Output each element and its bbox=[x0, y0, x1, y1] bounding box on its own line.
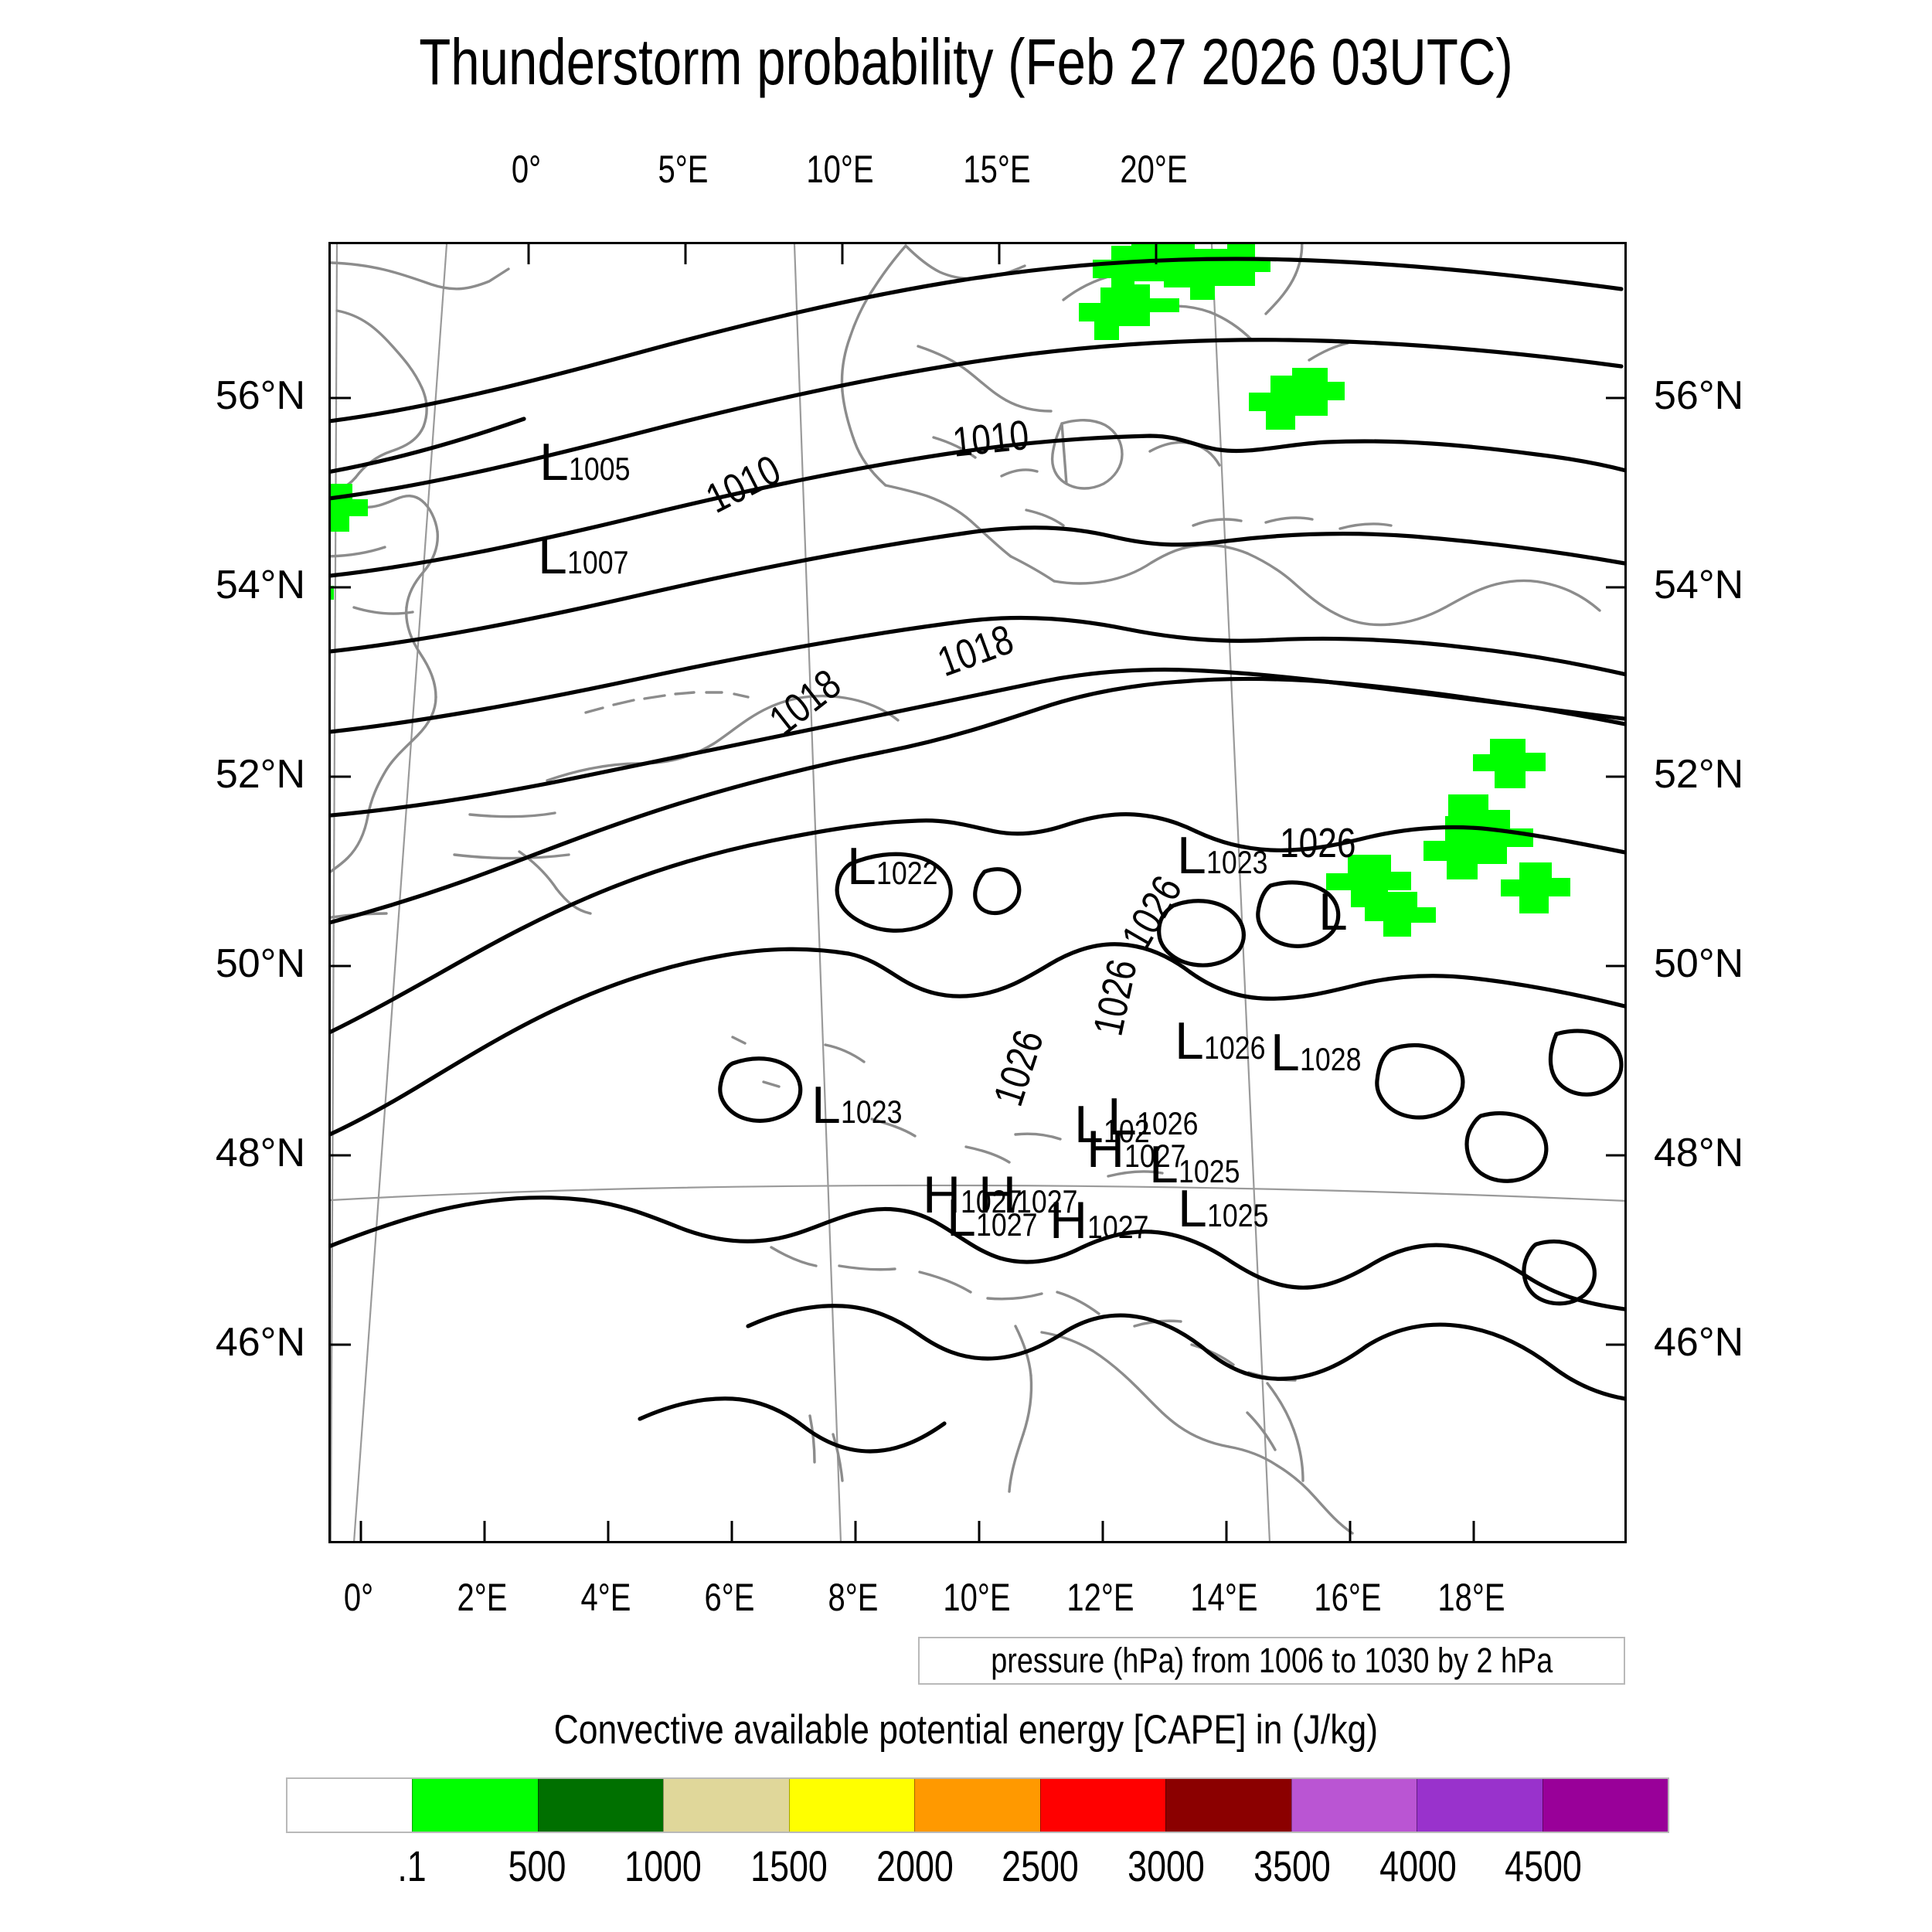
bottom-lon-tick-4: 8°E bbox=[810, 1575, 896, 1620]
top-lon-tick-3: 15°E bbox=[960, 147, 1034, 192]
page-title: Thunderstorm probability (Feb 27 2026 03… bbox=[193, 25, 1739, 100]
colorbar-tick-8: 4000 bbox=[1379, 1841, 1457, 1891]
left-lat-tick-4: 48°N bbox=[0, 1130, 305, 1176]
right-lat-tick-0: 56°N bbox=[1654, 372, 1743, 419]
left-lat-tick-1: 54°N bbox=[0, 562, 305, 608]
colorbar-cell-3[interactable] bbox=[663, 1779, 788, 1832]
low-pressure-marker-4: L bbox=[1318, 886, 1348, 938]
pressure-legend-box: pressure (hPa) from 1006 to 1030 by 2 hP… bbox=[918, 1637, 1625, 1685]
bottom-lon-tick-3: 6°E bbox=[686, 1575, 773, 1620]
low-pressure-marker-6: L1028 bbox=[1270, 1026, 1372, 1079]
right-lat-tick-2: 52°N bbox=[1654, 751, 1743, 798]
contour-label-1010-0: 1010 bbox=[951, 410, 1048, 467]
cape-colorbar[interactable] bbox=[286, 1777, 1669, 1833]
colorbar-cell-0[interactable] bbox=[287, 1779, 412, 1832]
colorbar-cell-6[interactable] bbox=[1040, 1779, 1165, 1832]
top-lon-tick-0: 0° bbox=[489, 147, 563, 192]
colorbar-cell-2[interactable] bbox=[538, 1779, 663, 1832]
bottom-lon-tick-9: 18°E bbox=[1428, 1575, 1515, 1620]
colorbar-cell-5[interactable] bbox=[914, 1779, 1039, 1832]
bottom-lon-tick-8: 16°E bbox=[1304, 1575, 1391, 1620]
colorbar-tick-2: 1000 bbox=[624, 1841, 702, 1891]
colorbar-caption-text: Convective available potential energy [C… bbox=[554, 1706, 1379, 1753]
bottom-lon-tick-1: 2°E bbox=[439, 1575, 526, 1620]
top-lon-tick-1: 5°E bbox=[646, 147, 720, 192]
high-pressure-marker-16: H1027 bbox=[1049, 1194, 1160, 1247]
top-lon-tick-2: 10°E bbox=[803, 147, 877, 192]
map-plot-area[interactable]: 10101010101810181026102610261026 L1005L1… bbox=[328, 242, 1627, 1543]
left-lat-tick-0: 56°N bbox=[0, 372, 305, 419]
colorbar-caption: Convective available potential energy [C… bbox=[0, 1706, 1932, 1753]
low-pressure-marker-3: L1023 bbox=[1177, 829, 1278, 882]
low-pressure-marker-1: L1007 bbox=[538, 529, 639, 582]
colorbar-cell-10[interactable] bbox=[1543, 1779, 1668, 1832]
right-lat-tick-3: 50°N bbox=[1654, 940, 1743, 987]
colorbar-tick-9: 4500 bbox=[1505, 1841, 1582, 1891]
left-lat-tick-3: 50°N bbox=[0, 940, 305, 987]
right-lat-tick-5: 46°N bbox=[1654, 1319, 1743, 1366]
colorbar-cell-7[interactable] bbox=[1165, 1779, 1291, 1832]
left-lat-tick-5: 46°N bbox=[0, 1319, 305, 1366]
low-pressure-marker-5: L1026 bbox=[1175, 1015, 1276, 1067]
right-lat-tick-1: 54°N bbox=[1654, 562, 1743, 608]
low-pressure-marker-15: L1027 bbox=[947, 1192, 1048, 1244]
right-lat-tick-4: 48°N bbox=[1654, 1130, 1743, 1176]
low-pressure-marker-2: L1022 bbox=[847, 840, 948, 893]
colorbar-tick-0: .1 bbox=[397, 1841, 426, 1891]
colorbar-tick-7: 3500 bbox=[1253, 1841, 1331, 1891]
colorbar-cell-9[interactable] bbox=[1417, 1779, 1542, 1832]
low-pressure-marker-0: L1005 bbox=[539, 436, 641, 488]
contour-label-1026-4: 1026 bbox=[1280, 819, 1372, 867]
colorbar-tick-3: 1500 bbox=[750, 1841, 828, 1891]
left-lat-tick-2: 52°N bbox=[0, 751, 305, 798]
low-pressure-marker-7: L1023 bbox=[811, 1079, 913, 1131]
colorbar-tick-6: 3000 bbox=[1128, 1841, 1205, 1891]
bottom-lon-tick-5: 10°E bbox=[934, 1575, 1020, 1620]
top-lon-tick-4: 20°E bbox=[1117, 147, 1191, 192]
colorbar-tick-1: 500 bbox=[509, 1841, 566, 1891]
bottom-lon-tick-2: 4°E bbox=[563, 1575, 649, 1620]
low-pressure-marker-14: L1025 bbox=[1178, 1182, 1279, 1235]
colorbar-tick-4: 2000 bbox=[876, 1841, 954, 1891]
cape-colorbar-ticks: .150010001500200025003000350040004500 bbox=[286, 1841, 1669, 1895]
colorbar-cell-8[interactable] bbox=[1291, 1779, 1417, 1832]
pressure-legend-text: pressure (hPa) from 1006 to 1030 by 2 hP… bbox=[991, 1641, 1553, 1681]
colorbar-cell-1[interactable] bbox=[412, 1779, 537, 1832]
colorbar-cell-4[interactable] bbox=[789, 1779, 914, 1832]
bottom-lon-tick-0: 0° bbox=[315, 1575, 402, 1620]
bottom-lon-tick-6: 12°E bbox=[1057, 1575, 1144, 1620]
chart-canvas: Thunderstorm probability (Feb 27 2026 03… bbox=[0, 0, 1932, 1932]
bottom-lon-tick-7: 14°E bbox=[1181, 1575, 1267, 1620]
colorbar-tick-5: 2500 bbox=[1002, 1841, 1080, 1891]
